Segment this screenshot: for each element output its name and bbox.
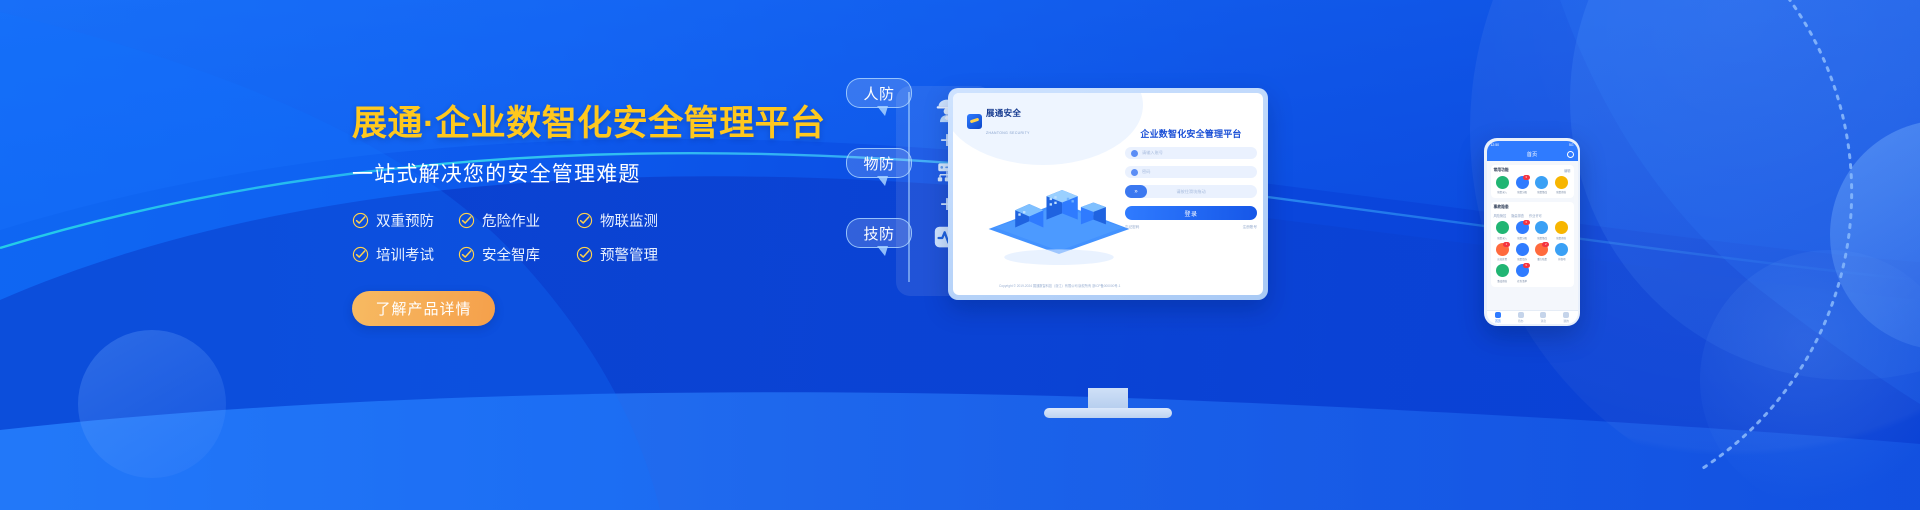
app-icon — [1496, 176, 1509, 189]
section-header: 事故隐患 — [1494, 205, 1571, 210]
username-placeholder: 请输入账号 — [1142, 150, 1163, 156]
tag-wufang[interactable]: 物防 — [846, 148, 912, 178]
section-tabs: 风险管控 隐患排查 作业许可 — [1494, 213, 1571, 218]
phone-tab-bar: 首页 待办 消息 我的 — [1487, 310, 1578, 324]
app-item[interactable]: 隐患录入 — [1494, 221, 1512, 240]
check-circle-icon — [458, 212, 475, 229]
phone-status-bar: 12:50 5G — [1487, 141, 1578, 149]
home-icon — [1495, 312, 1501, 318]
feature-label: 双重预防 — [376, 210, 434, 231]
app-icon-grid: 隐患录入 3 隐患分配 隐患整改 隐患验收 — [1494, 221, 1571, 283]
app-icon — [1516, 243, 1529, 256]
lock-icon — [1131, 169, 1138, 176]
section-title: 事故隐患 — [1494, 205, 1509, 210]
desktop-monitor-mockup: 展通安全 ZHANTONG SECURITY — [948, 88, 1268, 300]
monitor-screen: 展通安全 ZHANTONG SECURITY — [953, 93, 1263, 295]
login-card: 企业数智化安全管理平台 请输入账号 密码 » 请按住滑块拖动 登录 — [1125, 127, 1257, 230]
app-item[interactable]: 整改验收 — [1494, 264, 1512, 283]
copyright-footer: Copyright © 2019-2024 展通数智科技（浙江）有限公司 版权所… — [999, 283, 1120, 288]
notification-badge: 1 — [1503, 242, 1510, 247]
feature-list: 双重预防 危险作业 物联监测 — [352, 210, 822, 265]
notification-badge: 9 — [1523, 263, 1530, 268]
check-circle-icon — [352, 246, 369, 263]
app-label: 隐患督办 — [1517, 257, 1527, 261]
todo-icon — [1518, 312, 1524, 318]
notification-badge: 2 — [1542, 242, 1549, 247]
feature-item: 培训考试 — [352, 244, 458, 265]
app-label: 重大隐患 — [1537, 257, 1547, 261]
slider-captcha[interactable]: » 请按住滑块拖动 — [1125, 185, 1257, 198]
tag-label: 技防 — [863, 223, 894, 244]
notification-badge: 3 — [1523, 175, 1530, 180]
tab-todo[interactable]: 待办 — [1518, 312, 1524, 323]
notification-badge: 3 — [1523, 220, 1530, 225]
login-links: 忘记密码 注册账号 — [1125, 225, 1257, 230]
tab-home[interactable]: 首页 — [1495, 312, 1501, 323]
app-label: 隐患录入 — [1498, 236, 1508, 240]
app-icon — [1555, 243, 1568, 256]
app-icon — [1496, 264, 1509, 277]
app-label: 隐患验收 — [1557, 236, 1567, 240]
tab-profile[interactable]: 我的 — [1563, 312, 1569, 323]
tab-label: 我的 — [1563, 319, 1569, 323]
feature-label: 危险作业 — [482, 210, 540, 231]
register-link[interactable]: 注册账号 — [1243, 225, 1257, 230]
section-header: 常用功能 编辑 — [1494, 168, 1571, 173]
section-title: 常用功能 — [1494, 168, 1509, 173]
app-label: 隐患整改 — [1537, 236, 1547, 240]
login-title: 企业数智化安全管理平台 — [1125, 127, 1257, 140]
status-time: 12:50 — [1491, 143, 1500, 147]
tag-label: 人防 — [863, 83, 894, 104]
hero-copy: 展通·企业数智化安全管理平台 一站式解决您的安全管理难题 双重预防 危险作业 — [352, 104, 822, 326]
tag-jifang[interactable]: 技防 — [846, 218, 912, 248]
app-icon — [1555, 176, 1568, 189]
feature-label: 预警管理 — [600, 244, 658, 265]
app-icon — [1496, 221, 1509, 234]
mobile-phone-mockup: 12:50 5G 首页 常用功能 编辑 隐患录入 — [1484, 138, 1580, 326]
monitor-base — [1044, 408, 1172, 418]
app-icon — [1535, 221, 1548, 234]
logo-mark-icon — [967, 114, 982, 129]
app-item[interactable]: 隐患整改 — [1533, 176, 1551, 195]
app-label: 任务清单 — [1517, 279, 1527, 283]
app-icon — [1535, 176, 1548, 189]
edit-button[interactable]: 编辑 — [1564, 168, 1570, 173]
tag-renfang[interactable]: 人防 — [846, 78, 912, 108]
app-label: 隐患整改 — [1537, 190, 1547, 194]
gear-icon[interactable] — [1567, 151, 1574, 158]
app-item[interactable]: 排查项 — [1553, 243, 1571, 262]
status-signal: 5G — [1569, 143, 1574, 147]
app-label: 隐患验收 — [1557, 190, 1567, 194]
tab-label: 待办 — [1518, 319, 1524, 323]
feature-item: 物联监测 — [576, 210, 822, 231]
check-circle-icon — [576, 246, 593, 263]
username-field[interactable]: 请输入账号 — [1125, 147, 1257, 159]
tab-item[interactable]: 作业许可 — [1529, 213, 1542, 218]
user-icon — [1131, 150, 1138, 157]
app-label: 排查项 — [1558, 257, 1565, 261]
tab-label: 消息 — [1541, 319, 1547, 323]
tab-label: 首页 — [1495, 319, 1501, 323]
app-icon-grid: 隐患录入 3 隐患分配 隐患整改 隐患验收 — [1494, 176, 1571, 195]
slider-label: 请按住滑块拖动 — [1176, 189, 1205, 195]
promo-banner: 展通·企业数智化安全管理平台 一站式解决您的安全管理难题 双重预防 危险作业 — [0, 0, 1920, 510]
logo-subtext: ZHANTONG SECURITY — [986, 131, 1030, 135]
app-item[interactable]: 9 任务清单 — [1513, 264, 1531, 283]
app-icon: 9 — [1516, 264, 1529, 277]
app-item[interactable]: 隐患验收 — [1553, 221, 1571, 240]
monitor-bezel: 展通安全 ZHANTONG SECURITY — [948, 88, 1268, 300]
monitor-neck — [1088, 388, 1128, 410]
message-icon — [1540, 312, 1546, 318]
login-submit-button[interactable]: 登录 — [1125, 206, 1257, 220]
isometric-city-illustration — [979, 179, 1139, 265]
app-icon: 1 — [1496, 243, 1509, 256]
person-icon — [1563, 312, 1569, 318]
check-circle-icon — [576, 212, 593, 229]
feature-item: 预警管理 — [576, 244, 822, 265]
tab-item[interactable]: 风险管控 — [1494, 213, 1507, 218]
app-label: 隐患分配 — [1517, 236, 1527, 240]
app-item[interactable]: 隐患验收 — [1553, 176, 1571, 195]
phone-screen: 12:50 5G 首页 常用功能 编辑 隐患录入 — [1487, 141, 1578, 324]
password-placeholder: 密码 — [1142, 169, 1150, 175]
tab-item[interactable]: 隐患排查 — [1511, 213, 1524, 218]
feature-label: 安全智库 — [482, 244, 540, 265]
app-label: 隐患分配 — [1517, 190, 1527, 194]
app-item[interactable]: 3 隐患分配 — [1513, 221, 1531, 240]
phone-section-favorites: 常用功能 编辑 隐患录入 3 隐患分配 — [1491, 165, 1574, 199]
app-label: 隐患录入 — [1498, 190, 1508, 194]
product-logo: 展通安全 ZHANTONG SECURITY — [967, 103, 1030, 139]
app-item[interactable]: 2 重大隐患 — [1533, 243, 1551, 262]
app-item[interactable]: 隐患录入 — [1494, 176, 1512, 195]
phone-nav-title: 首页 — [1527, 151, 1537, 158]
app-item[interactable]: 1 应急处置 — [1494, 243, 1512, 262]
check-circle-icon — [352, 212, 369, 229]
phone-section-hazards: 事故隐患 风险管控 隐患排查 作业许可 隐患录入 3 — [1491, 202, 1574, 287]
check-circle-icon — [458, 246, 475, 263]
tag-label: 物防 — [863, 153, 894, 174]
feature-label: 物联监测 — [600, 210, 658, 231]
feature-item: 安全智库 — [458, 244, 576, 265]
tab-messages[interactable]: 消息 — [1540, 312, 1546, 323]
page-title: 展通·企业数智化安全管理平台 — [352, 104, 822, 144]
app-label: 整改验收 — [1498, 279, 1508, 283]
app-icon — [1555, 221, 1568, 234]
feature-label: 培训考试 — [376, 244, 434, 265]
feature-item: 危险作业 — [458, 210, 576, 231]
circle-bottom-left — [78, 330, 226, 478]
password-field[interactable]: 密码 — [1125, 166, 1257, 178]
app-icon: 3 — [1516, 221, 1529, 234]
app-label: 应急处置 — [1498, 257, 1508, 261]
app-item[interactable]: 隐患督办 — [1513, 243, 1531, 262]
feature-item: 双重预防 — [352, 210, 458, 231]
app-icon: 3 — [1516, 176, 1529, 189]
logo-text: 展通安全 — [986, 108, 1021, 118]
phone-nav-bar: 首页 — [1487, 149, 1578, 161]
app-item[interactable]: 3 隐患分配 — [1513, 176, 1531, 195]
app-icon: 2 — [1535, 243, 1548, 256]
learn-more-button[interactable]: 了解产品详情 — [352, 291, 495, 326]
page-subtitle: 一站式解决您的安全管理难题 — [352, 158, 822, 188]
app-item[interactable]: 隐患整改 — [1533, 221, 1551, 240]
forgot-password-link[interactable]: 忘记密码 — [1125, 225, 1139, 230]
slider-handle[interactable]: » — [1125, 185, 1147, 198]
